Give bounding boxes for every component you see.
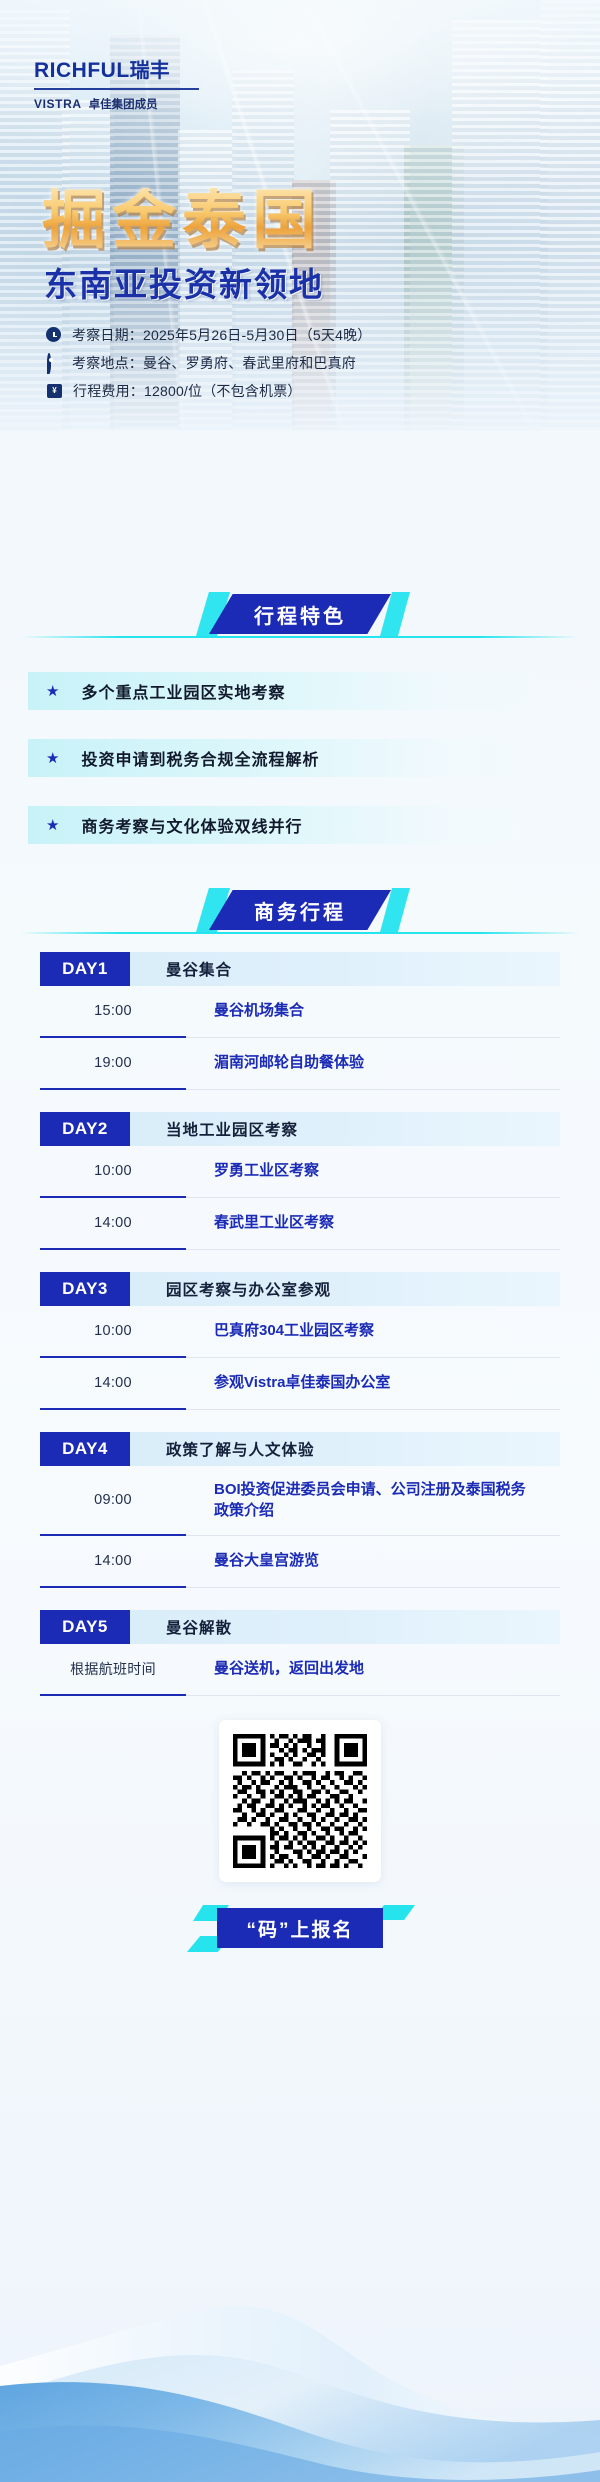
day-header: DAY3 园区考察与办公室参观 (40, 1272, 560, 1306)
day-block: DAY5 曼谷解散 根据航班时间 曼谷送机，返回出发地 (40, 1610, 560, 1696)
schedule-row: 根据航班时间 曼谷送机，返回出发地 (40, 1644, 560, 1696)
day-header: DAY4 政策了解与人文体验 (40, 1432, 560, 1466)
star-icon: ★ (46, 818, 59, 833)
day-block: DAY4 政策了解与人文体验 09:00 BOI投资促进委员会申请、公司注册及泰… (40, 1432, 560, 1588)
schedule-row: 14:00 参观Vistra卓佳泰国办公室 (40, 1358, 560, 1410)
schedule-desc: 曼谷送机，返回出发地 (186, 1644, 560, 1696)
schedule-row: 15:00 曼谷机场集合 (40, 986, 560, 1038)
schedule-row: 19:00 湄南河邮轮自助餐体验 (40, 1038, 560, 1090)
schedule-time: 14:00 (40, 1198, 186, 1250)
itinerary-heading: 商务行程 (209, 890, 391, 930)
features-list: ★ 多个重点工业园区实地考察 ★ 投资申请到税务合规全流程解析 ★ 商务考察与文… (0, 672, 600, 844)
register-button[interactable]: “码”上报名 (217, 1908, 383, 1948)
info-row-date: 考察日期：2025年5月26日-5月30日（5天4晚） (46, 322, 372, 347)
schedule-desc: 湄南河邮轮自助餐体验 (186, 1038, 560, 1090)
day-title: 曼谷解散 (130, 1610, 560, 1644)
day-badge: DAY2 (40, 1112, 130, 1146)
wave-graphic (0, 2302, 600, 2482)
schedule-time: 14:00 (40, 1536, 186, 1588)
feature-text: 多个重点工业园区实地考察 (81, 679, 285, 703)
schedule-desc: 参观Vistra卓佳泰国办公室 (186, 1358, 560, 1410)
page-title: 掘金泰国 (42, 188, 322, 252)
day-title: 园区考察与办公室参观 (130, 1272, 560, 1306)
schedule-desc: 巴真府304工业园区考察 (186, 1306, 560, 1358)
logo-divider (34, 88, 199, 90)
schedule-row: 09:00 BOI投资促进委员会申请、公司注册及泰国税务政策介绍 (40, 1466, 560, 1536)
logo-vistra-cn: 卓佳集团成员 (89, 96, 158, 112)
footer-wave-decoration (0, 2302, 600, 2482)
feature-text: 商务考察与文化体验双线并行 (81, 813, 302, 837)
money-icon: ¥ (47, 384, 62, 398)
logo-primary-text: RICHFUL瑞丰 (34, 60, 199, 81)
feature-item: ★ 多个重点工业园区实地考察 (28, 672, 572, 710)
schedule-time: 14:00 (40, 1358, 186, 1410)
poster-root: RICHFUL瑞丰 VISTRA 卓佳集团成员 掘金泰国 东南亚投资新领地 考察… (0, 0, 600, 2482)
location-pin-icon (46, 355, 61, 370)
schedule-desc: 春武里工业区考察 (186, 1198, 560, 1250)
info-row-location: 考察地点：曼谷、罗勇府、春武里府和巴真府 (46, 350, 372, 375)
schedule-desc: 曼谷机场集合 (186, 986, 560, 1038)
header-underline (20, 932, 580, 934)
qr-code[interactable] (233, 1734, 367, 1868)
brand-logo: RICHFUL瑞丰 VISTRA 卓佳集团成员 (34, 60, 199, 112)
qr-code-card[interactable] (219, 1720, 381, 1882)
schedule-time: 10:00 (40, 1146, 186, 1198)
logo-richful-en: RICHFUL (34, 59, 130, 82)
event-info-list: 考察日期：2025年5月26日-5月30日（5天4晚） 考察地点：曼谷、罗勇府、… (46, 322, 372, 406)
itinerary-section-header: 商务行程 (0, 888, 600, 940)
page-subtitle: 东南亚投资新领地 (44, 268, 324, 301)
day-title: 当地工业园区考察 (130, 1112, 560, 1146)
star-icon: ★ (46, 751, 59, 766)
info-fee-text: 行程费用：12800/位（不包含机票） (73, 381, 302, 401)
day-badge: DAY1 (40, 952, 130, 986)
day-block: DAY2 当地工业园区考察 10:00 罗勇工业区考察 14:00 春武里工业区… (40, 1112, 560, 1250)
registration-zone: “码”上报名 (0, 1720, 600, 1948)
schedule-time: 15:00 (40, 986, 186, 1038)
info-location-text: 考察地点：曼谷、罗勇府、春武里府和巴真府 (72, 353, 356, 373)
schedule-time: 根据航班时间 (40, 1644, 186, 1696)
schedule-row: 14:00 春武里工业区考察 (40, 1198, 560, 1250)
feature-item: ★ 商务考察与文化体验双线并行 (28, 806, 572, 844)
hero-banner: RICHFUL瑞丰 VISTRA 卓佳集团成员 掘金泰国 东南亚投资新领地 考察… (0, 0, 600, 430)
day-badge: DAY3 (40, 1272, 130, 1306)
features-section-header: 行程特色 (0, 592, 600, 644)
clock-icon (46, 327, 61, 342)
schedule-desc: 曼谷大皇宫游览 (186, 1536, 560, 1588)
logo-vistra-en: VISTRA (34, 97, 82, 111)
schedule-row: 10:00 巴真府304工业园区考察 (40, 1306, 560, 1358)
day-block: DAY3 园区考察与办公室参观 10:00 巴真府304工业园区考察 14:00… (40, 1272, 560, 1410)
schedule-desc: 罗勇工业区考察 (186, 1146, 560, 1198)
day-badge: DAY5 (40, 1610, 130, 1644)
header-underline (20, 636, 580, 638)
day-header: DAY2 当地工业园区考察 (40, 1112, 560, 1146)
schedule-desc: BOI投资促进委员会申请、公司注册及泰国税务政策介绍 (186, 1466, 560, 1536)
register-cta[interactable]: “码”上报名 (217, 1908, 383, 1948)
day-header: DAY1 曼谷集合 (40, 952, 560, 986)
day-badge: DAY4 (40, 1432, 130, 1466)
day-title: 曼谷集合 (130, 952, 560, 986)
day-block: DAY1 曼谷集合 15:00 曼谷机场集合 19:00 湄南河邮轮自助餐体验 (40, 952, 560, 1090)
features-heading: 行程特色 (209, 594, 391, 634)
star-icon: ★ (46, 684, 59, 699)
day-header: DAY5 曼谷解散 (40, 1610, 560, 1644)
logo-secondary-text: VISTRA 卓佳集团成员 (34, 96, 199, 112)
schedule-row: 10:00 罗勇工业区考察 (40, 1146, 560, 1198)
feature-text: 投资申请到税务合规全流程解析 (81, 746, 319, 770)
schedule-row: 14:00 曼谷大皇宫游览 (40, 1536, 560, 1588)
info-date-text: 考察日期：2025年5月26日-5月30日（5天4晚） (72, 325, 372, 345)
schedule-time: 19:00 (40, 1038, 186, 1090)
info-row-fee: ¥ 行程费用：12800/位（不包含机票） (46, 378, 372, 403)
day-title: 政策了解与人文体验 (130, 1432, 560, 1466)
itinerary-list: DAY1 曼谷集合 15:00 曼谷机场集合 19:00 湄南河邮轮自助餐体验 … (0, 952, 600, 1696)
schedule-time: 09:00 (40, 1466, 186, 1536)
schedule-time: 10:00 (40, 1306, 186, 1358)
feature-item: ★ 投资申请到税务合规全流程解析 (28, 739, 572, 777)
logo-richful-cn: 瑞丰 (130, 60, 170, 82)
